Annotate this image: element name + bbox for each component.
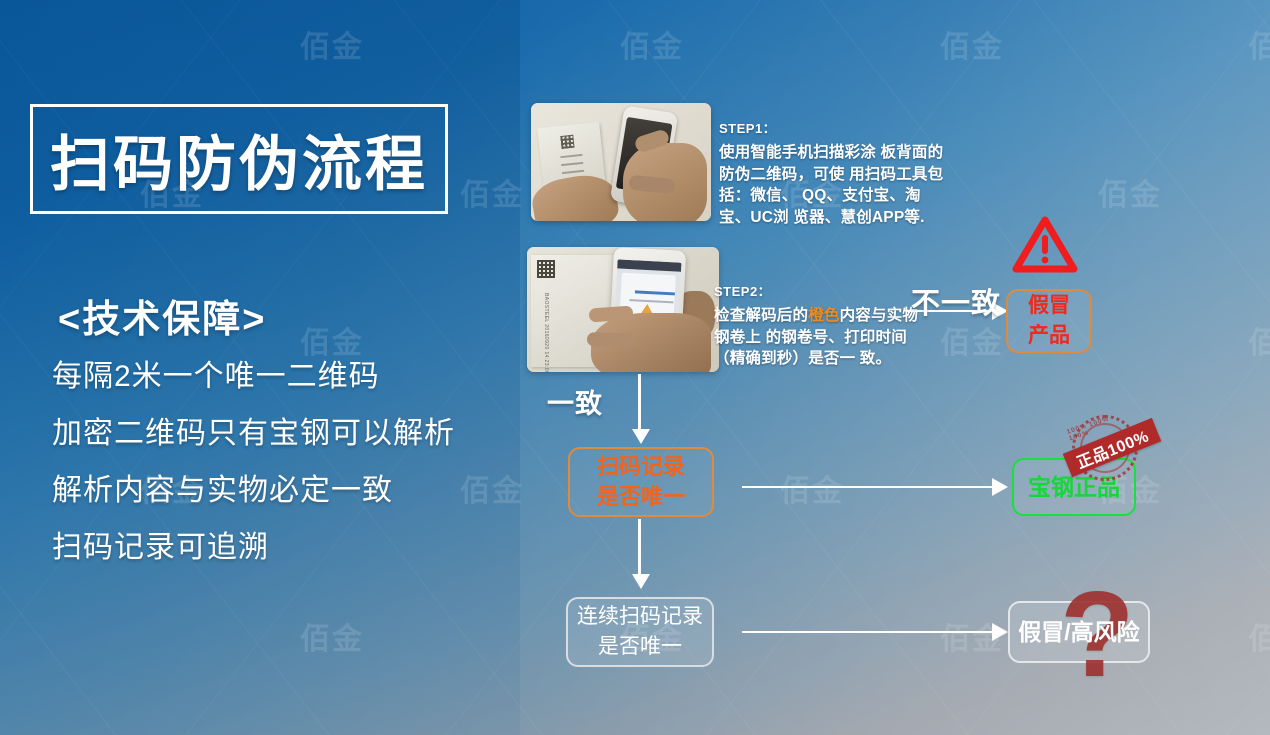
slide-canvas: 佰金 佰金 佰金 佰金 佰金 佰金 佰金 佰金 佰金 佰金 佰金 佰金 佰金 佰… — [0, 0, 1270, 735]
finger — [587, 332, 635, 348]
list-item: 解析内容与实物必定一致 — [52, 462, 502, 519]
step2-body-text-a: 检查解码后的 — [714, 307, 808, 324]
arrow-scan-to-genuine-head — [992, 478, 1008, 496]
arrow-continuous-to-risk-head — [992, 623, 1008, 641]
watermark: 佰金 — [780, 466, 844, 510]
step2-photo: BAOSTEEL 20160920 14:23:06 1002 251 — [527, 247, 719, 372]
decision-scan-line2: 是否唯一 — [597, 482, 685, 512]
watermark: 佰金 — [1248, 22, 1270, 66]
arrow-step2-to-scan-line — [638, 374, 641, 432]
app-titlebar — [617, 259, 681, 271]
outcome-fake-line1: 假冒 — [1028, 291, 1070, 321]
tech-guarantee-heading: <技术保障> — [58, 288, 266, 343]
arrow-scan-to-continuous-head — [632, 574, 650, 589]
watermark: 佰金 — [1098, 170, 1162, 214]
list-item: 加密二维码只有宝钢可以解析 — [52, 405, 502, 462]
outcome-high-risk-label: 假冒/高风险 — [1018, 617, 1139, 647]
qr-code-icon — [537, 260, 555, 278]
watermark: 佰金 — [1248, 318, 1270, 362]
outcome-genuine-box[interactable]: 宝钢正品 — [1012, 458, 1136, 516]
step2-text-block: STEP2： 检查解码后的橙色内容与实物钢卷上 的钢卷号、打印时间 （精确到秒）… — [714, 281, 922, 370]
result-title-line — [635, 290, 675, 295]
card-line — [561, 162, 583, 166]
arrow-continuous-to-risk-line — [742, 631, 994, 633]
decision-continuous-scan-box[interactable]: 连续扫码记录 是否唯一 — [566, 597, 714, 667]
card-line — [560, 154, 582, 158]
outcome-genuine-label: 宝钢正品 — [1028, 472, 1120, 502]
decision-scan-line1: 扫码记录 — [597, 452, 685, 482]
step1-body: 使用智能手机扫描彩涂 板背面的防伪二维码，可使 用扫码工具包括：微信、 QQ、支… — [719, 142, 951, 228]
result-line — [629, 299, 673, 303]
watermark: 佰金 — [300, 614, 364, 658]
edge-label-consistent: 一致 — [547, 382, 603, 421]
label-print-text: BAOSTEEL 20160920 14:23:06 1002 251 — [541, 293, 550, 372]
step1-photo — [531, 103, 711, 221]
step1-header: STEP1： — [719, 118, 951, 137]
watermark: 佰金 — [620, 22, 684, 66]
arrow-scan-to-genuine-line — [742, 486, 994, 488]
warning-triangle-icon — [1012, 216, 1078, 274]
page-title: 扫码防伪流程 — [50, 116, 428, 203]
decision-scan-record-box[interactable]: 扫码记录 是否唯一 — [568, 447, 714, 517]
step2-highlight-orange: 橙色 — [808, 307, 839, 324]
step1-body-text: 使用智能手机扫描彩涂 板背面的防伪二维码，可使 用扫码工具包括：微信、 QQ、支… — [719, 144, 943, 226]
decision-continuous-line2: 是否唯一 — [598, 632, 682, 662]
outcome-fake-line2: 产品 — [1028, 321, 1070, 351]
tech-guarantee-list: 每隔2米一个唯一二维码 加密二维码只有宝钢可以解析 解析内容与实物必定一致 扫码… — [52, 348, 502, 576]
edge-label-inconsistent: 不一致 — [911, 280, 1001, 322]
watermark: 佰金 — [300, 22, 364, 66]
arrow-scan-to-continuous-line — [638, 519, 641, 577]
step2-header: STEP2： — [714, 281, 922, 300]
outcome-high-risk-box[interactable]: 假冒/高风险 — [1008, 601, 1150, 663]
watermark: 佰金 — [940, 22, 1004, 66]
arrow-step2-to-scan-head — [632, 429, 650, 444]
qr-code-icon — [560, 135, 574, 149]
step1-text-block: STEP1： 使用智能手机扫描彩涂 板背面的防伪二维码，可使 用扫码工具包括：微… — [719, 118, 951, 228]
watermark: 佰金 — [460, 170, 524, 214]
outcome-fake-product-box[interactable]: 假冒 产品 — [1006, 289, 1092, 353]
watermark: 佰金 — [1248, 614, 1270, 658]
list-item: 每隔2米一个唯一二维码 — [52, 348, 502, 405]
watermark: 佰金 — [940, 318, 1004, 362]
step2-body: 检查解码后的橙色内容与实物钢卷上 的钢卷号、打印时间 （精确到秒）是否一 致。 — [714, 305, 922, 370]
card-line — [562, 170, 584, 174]
decision-continuous-line1: 连续扫码记录 — [577, 602, 703, 632]
slide-title-box: 扫码防伪流程 — [30, 104, 448, 214]
list-item: 扫码记录可追溯 — [52, 519, 502, 576]
